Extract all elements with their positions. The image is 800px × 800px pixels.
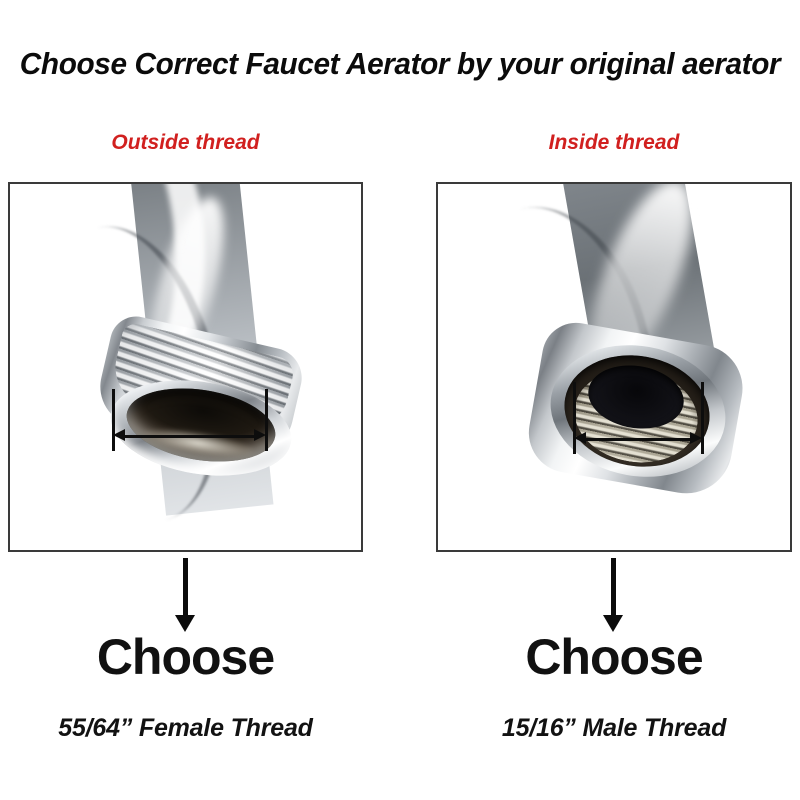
dimension-annotation-inside <box>571 382 719 454</box>
dimension-arrowhead-right <box>254 429 266 441</box>
page-title: Choose Correct Faucet Aerator by your or… <box>16 46 784 82</box>
dimension-tick-right <box>265 389 268 451</box>
dimension-annotation-outside <box>110 389 280 451</box>
column-heading-outside-thread: Outside thread <box>8 131 363 155</box>
arrow-shaft <box>611 558 616 616</box>
dimension-arrowhead-left <box>574 432 586 444</box>
dimension-line <box>122 435 257 438</box>
arrow-shaft <box>183 558 188 616</box>
column-heading-inside-thread: Inside thread <box>436 131 792 155</box>
action-label-outside: Choose <box>8 628 363 686</box>
dimension-line <box>583 438 693 441</box>
action-label-inside: Choose <box>436 628 792 686</box>
result-label-outside: 55/64” Female Thread <box>8 714 363 743</box>
dimension-arrowhead-left <box>113 429 125 441</box>
result-label-inside: 15/16” Male Thread <box>436 714 792 743</box>
dimension-tick-left <box>112 389 115 451</box>
down-arrow-icon-outside <box>183 558 188 632</box>
dimension-arrowhead-right <box>690 432 702 444</box>
photo-panel-outside-thread: 21.5mm - 22mm <box>8 182 363 552</box>
faucet-outside-thread-image <box>10 184 361 550</box>
down-arrow-icon-inside <box>611 558 616 632</box>
faucet-inside-thread-image <box>438 184 790 550</box>
photo-panel-inside-thread: 23.5mm - 24mm <box>436 182 792 552</box>
